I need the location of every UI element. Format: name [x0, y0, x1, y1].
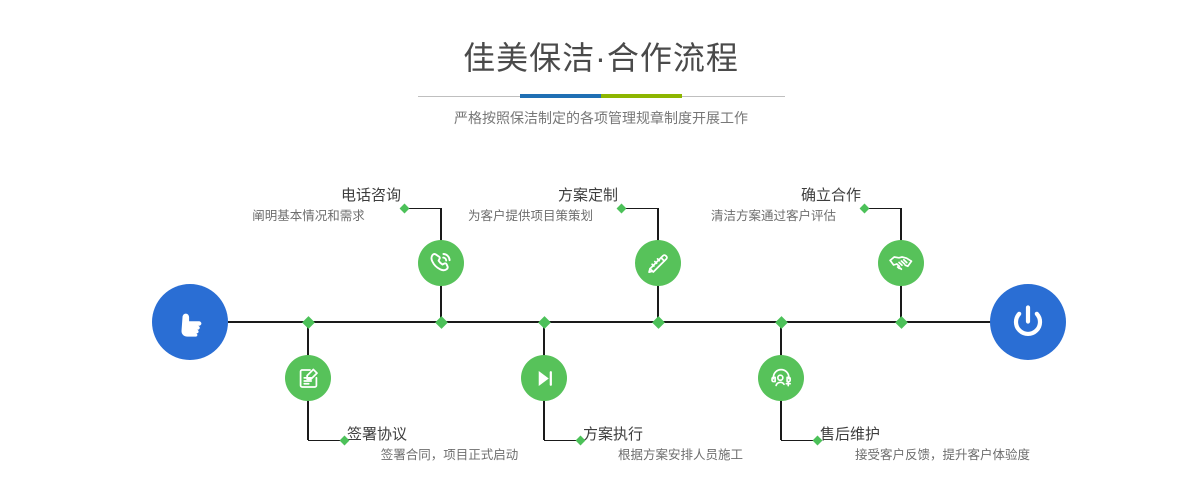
step-4-title: 方案执行 — [583, 426, 643, 443]
step-6-label: 售后维护 接受客户反馈，提升客户体验度 — [820, 425, 1065, 465]
step-3-desc: 为客户提供项目策策划 — [468, 209, 593, 223]
timeline-axis — [228, 321, 996, 323]
step-3-label: 方案定制 为客户提供项目策策划 — [443, 186, 618, 226]
step-3-icon-node[interactable] — [635, 240, 681, 286]
step-2-icon-node[interactable] — [285, 355, 331, 401]
headset-support-icon — [768, 365, 795, 392]
step-5-title: 确立合作 — [801, 187, 861, 204]
step-1-axis-marker — [435, 316, 448, 329]
step-1-title: 电话咨询 — [341, 187, 401, 204]
step-5-icon-node[interactable] — [878, 240, 924, 286]
step-5-horizontal-connector — [865, 208, 901, 210]
page-title: 佳美保洁·合作流程 — [0, 38, 1202, 78]
step-3-label-marker — [617, 203, 627, 213]
timeline-end-node — [990, 284, 1066, 360]
step-1-label: 电话咨询 阐明基本情况和需求 — [216, 186, 401, 226]
flowchart-page: 佳美保洁·合作流程 严格按照保洁制定的各项管理规章制度开展工作 — [0, 0, 1202, 502]
pointing-hand-icon — [169, 301, 211, 343]
timeline-start-node — [152, 284, 228, 360]
step-3-axis-marker — [652, 316, 665, 329]
step-6-title: 售后维护 — [820, 426, 880, 443]
step-2-axis-marker — [302, 316, 315, 329]
power-icon — [1006, 300, 1050, 344]
step-2-desc: 签署合同，项目正式启动 — [381, 448, 519, 462]
step-1-desc: 阐明基本情况和需求 — [252, 209, 365, 223]
step-1-label-marker — [400, 203, 410, 213]
step-6-icon-node[interactable] — [758, 355, 804, 401]
step-3-horizontal-connector — [622, 208, 658, 210]
step-1-horizontal-connector — [405, 208, 441, 210]
step-4-icon-node[interactable] — [521, 355, 567, 401]
step-5-axis-marker — [895, 316, 908, 329]
title-divider-blue-segment — [520, 94, 601, 98]
page-subtitle: 严格按照保洁制定的各项管理规章制度开展工作 — [0, 107, 1202, 129]
step-4-label: 方案执行 根据方案安排人员施工 — [583, 425, 778, 465]
step-5-label-marker — [860, 203, 870, 213]
step-3-title: 方案定制 — [558, 187, 618, 204]
step-5-label: 确立合作 清洁方案通过客户评估 — [686, 186, 861, 226]
document-pen-icon — [295, 365, 322, 392]
step-4-axis-marker — [538, 316, 551, 329]
step-4-desc: 根据方案安排人员施工 — [618, 448, 743, 462]
step-1-icon-node[interactable] — [418, 240, 464, 286]
step-5-desc: 清洁方案通过客户评估 — [711, 209, 836, 223]
handshake-icon — [887, 249, 915, 277]
play-execute-icon — [531, 365, 558, 392]
pencil-ruler-icon — [645, 250, 672, 277]
step-2-label: 签署协议 签署合同，项目正式启动 — [347, 425, 552, 465]
step-6-axis-marker — [775, 316, 788, 329]
phone-ring-icon — [427, 249, 455, 277]
step-2-title: 签署协议 — [347, 426, 407, 443]
step-6-desc: 接受客户反馈，提升客户体验度 — [855, 448, 1030, 462]
title-divider-green-segment — [601, 94, 682, 98]
